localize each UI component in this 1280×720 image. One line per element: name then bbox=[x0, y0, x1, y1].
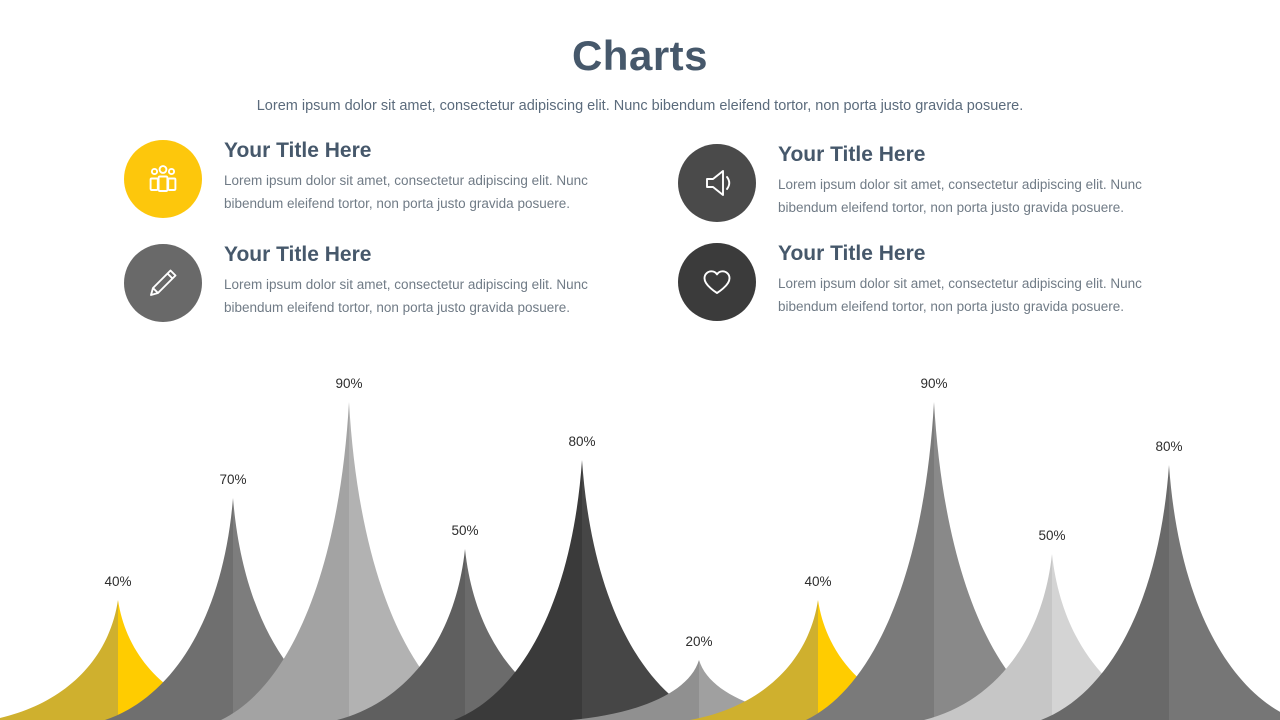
page-subtitle: Lorem ipsum dolor sit amet, consectetur … bbox=[0, 97, 1280, 116]
feature-body-2: Lorem ipsum dolor sit amet, consectetur … bbox=[224, 273, 624, 319]
feature-item-1[interactable]: Your Title Here Lorem ipsum dolor sit am… bbox=[124, 136, 624, 218]
feature-title-1: Your Title Here bbox=[224, 138, 624, 163]
feature-text-2: Your Title Here Lorem ipsum dolor sit am… bbox=[224, 240, 624, 320]
feature-item-2[interactable]: Your Title Here Lorem ipsum dolor sit am… bbox=[124, 240, 624, 322]
feature-body-3: Lorem ipsum dolor sit amet, consectetur … bbox=[778, 173, 1182, 219]
slide-root: Charts Lorem ipsum dolor sit amet, conse… bbox=[0, 0, 1280, 720]
feature-body-4: Lorem ipsum dolor sit amet, consectetur … bbox=[778, 272, 1182, 318]
feature-body-1: Lorem ipsum dolor sit amet, consectetur … bbox=[224, 169, 624, 215]
feature-text-4: Your Title Here Lorem ipsum dolor sit am… bbox=[778, 239, 1182, 319]
chart-peak-10-right bbox=[1169, 465, 1280, 720]
feature-text-3: Your Title Here Lorem ipsum dolor sit am… bbox=[778, 140, 1182, 220]
feature-title-2: Your Title Here bbox=[224, 242, 624, 267]
people-group-icon bbox=[124, 140, 202, 218]
chart-peak-1-left bbox=[0, 600, 118, 720]
chart-canvas: 40%70%90%50%80%20%40%90%50%80% bbox=[0, 360, 1280, 720]
feature-title-3: Your Title Here bbox=[778, 142, 1182, 167]
chart-peak-label-1: 40% bbox=[104, 574, 131, 589]
speaker-icon bbox=[678, 144, 756, 222]
page-title: Charts bbox=[0, 34, 1280, 78]
feature-text-1: Your Title Here Lorem ipsum dolor sit am… bbox=[224, 136, 624, 216]
feature-item-4[interactable]: Your Title Here Lorem ipsum dolor sit am… bbox=[678, 239, 1188, 321]
feature-title-4: Your Title Here bbox=[778, 241, 1182, 266]
chart-peak-label-8: 90% bbox=[920, 376, 947, 391]
chart-peak-label-7: 40% bbox=[804, 574, 831, 589]
chart-peak-label-5: 80% bbox=[568, 434, 595, 449]
chart-peak-label-9: 50% bbox=[1038, 528, 1065, 543]
chart-peak-label-2: 70% bbox=[219, 472, 246, 487]
spike-area-chart: 40%70%90%50%80%20%40%90%50%80% bbox=[0, 360, 1280, 720]
feature-item-3[interactable]: Your Title Here Lorem ipsum dolor sit am… bbox=[678, 140, 1188, 222]
feature-list: Your Title Here Lorem ipsum dolor sit am… bbox=[0, 136, 1280, 346]
heart-icon bbox=[678, 243, 756, 321]
chart-peak-label-3: 90% bbox=[335, 376, 362, 391]
pencil-icon bbox=[124, 244, 202, 322]
chart-peak-label-10: 80% bbox=[1155, 439, 1182, 454]
chart-peak-label-6: 20% bbox=[685, 634, 712, 649]
chart-peak-label-4: 50% bbox=[451, 523, 478, 538]
